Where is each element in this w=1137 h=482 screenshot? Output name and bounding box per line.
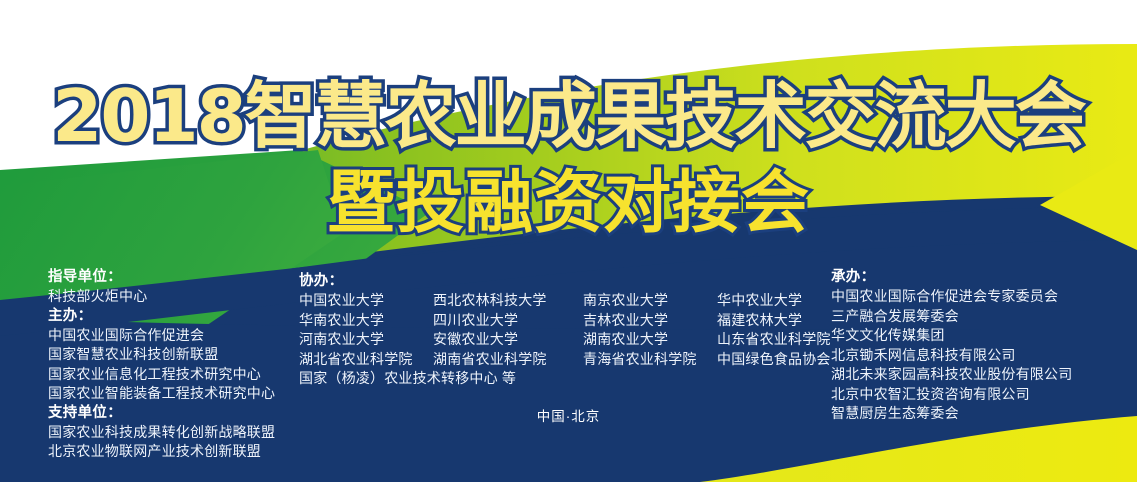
co-organizer-item: 安徽农业大学	[433, 330, 583, 350]
column-undertakers: 承办： 中国农业国际合作促进会专家委员会 三产融合发展筹委会 华文文化传媒集团 …	[831, 268, 1131, 424]
co-organizer-row: 华南农业大学 四川农业大学 吉林农业大学 福建农林大学	[299, 311, 819, 331]
undertaker-item: 湖北未来家园高科技农业股份有限公司	[831, 365, 1131, 385]
co-organizer-item: 四川农业大学	[433, 311, 583, 331]
undertaker-item: 北京中农智汇投资咨询有限公司	[831, 385, 1131, 405]
undertaker-item: 三产融合发展筹委会	[831, 307, 1131, 327]
column-organizers-left: 指导单位： 科技部火炬中心 主办： 中国农业国际合作促进会 国家智慧农业科技创新…	[48, 268, 308, 462]
co-organizer-item: 南京农业大学	[583, 291, 717, 311]
column-co-organizers: 协办： 中国农业大学 西北农林科技大学 南京农业大学 华中农业大学 华南农业大学…	[299, 272, 819, 389]
host-item: 国家智慧农业科技创新联盟	[48, 345, 308, 365]
host-item: 国家农业信息化工程技术研究中心	[48, 365, 308, 385]
host-header: 主办：	[48, 307, 308, 326]
support-unit-item: 北京农业物联网产业技术创新联盟	[48, 442, 308, 462]
co-organizer-header: 协办：	[299, 272, 819, 291]
undertaker-item: 华文文化传媒集团	[831, 326, 1131, 346]
co-organizer-item: 华南农业大学	[299, 311, 433, 331]
co-organizer-item: 西北农林科技大学	[433, 291, 583, 311]
event-location: 中国·北京	[0, 405, 1137, 425]
co-organizer-row: 中国农业大学 西北农林科技大学 南京农业大学 华中农业大学	[299, 291, 819, 311]
guide-unit-item: 科技部火炬中心	[48, 287, 308, 307]
host-item: 国家农业智能装备工程技术研究中心	[48, 384, 308, 404]
co-organizer-item: 中国农业大学	[299, 291, 433, 311]
support-unit-item: 国家农业科技成果转化创新战略联盟	[48, 423, 308, 443]
co-organizer-row: 河南农业大学 安徽农业大学 湖南农业大学 山东省农业科学院	[299, 330, 819, 350]
co-organizer-last-line: 国家（杨凌）农业技术转移中心 等	[299, 369, 819, 389]
co-organizer-item: 湖南农业大学	[583, 330, 717, 350]
co-organizer-item: 湖南省农业科学院	[433, 350, 583, 370]
undertaker-item: 北京锄禾网信息科技有限公司	[831, 346, 1131, 366]
co-organizer-item: 湖北省农业科学院	[299, 350, 433, 370]
co-organizer-item: 河南农业大学	[299, 330, 433, 350]
credits-section: 指导单位： 科技部火炬中心 主办： 中国农业国际合作促进会 国家智慧农业科技创新…	[0, 0, 1137, 482]
event-banner: 2018智慧农业成果技术交流大会 暨投融资对接会 指导单位： 科技部火炬中心 主…	[0, 0, 1137, 482]
undertaker-header: 承办：	[831, 268, 1131, 287]
co-organizer-item: 青海省农业科学院	[583, 350, 717, 370]
undertaker-item: 中国农业国际合作促进会专家委员会	[831, 287, 1131, 307]
co-organizer-item: 吉林农业大学	[583, 311, 717, 331]
host-item: 中国农业国际合作促进会	[48, 326, 308, 346]
guide-unit-header: 指导单位：	[48, 268, 308, 287]
co-organizer-row: 湖北省农业科学院 湖南省农业科学院 青海省农业科学院 中国绿色食品协会	[299, 350, 819, 370]
